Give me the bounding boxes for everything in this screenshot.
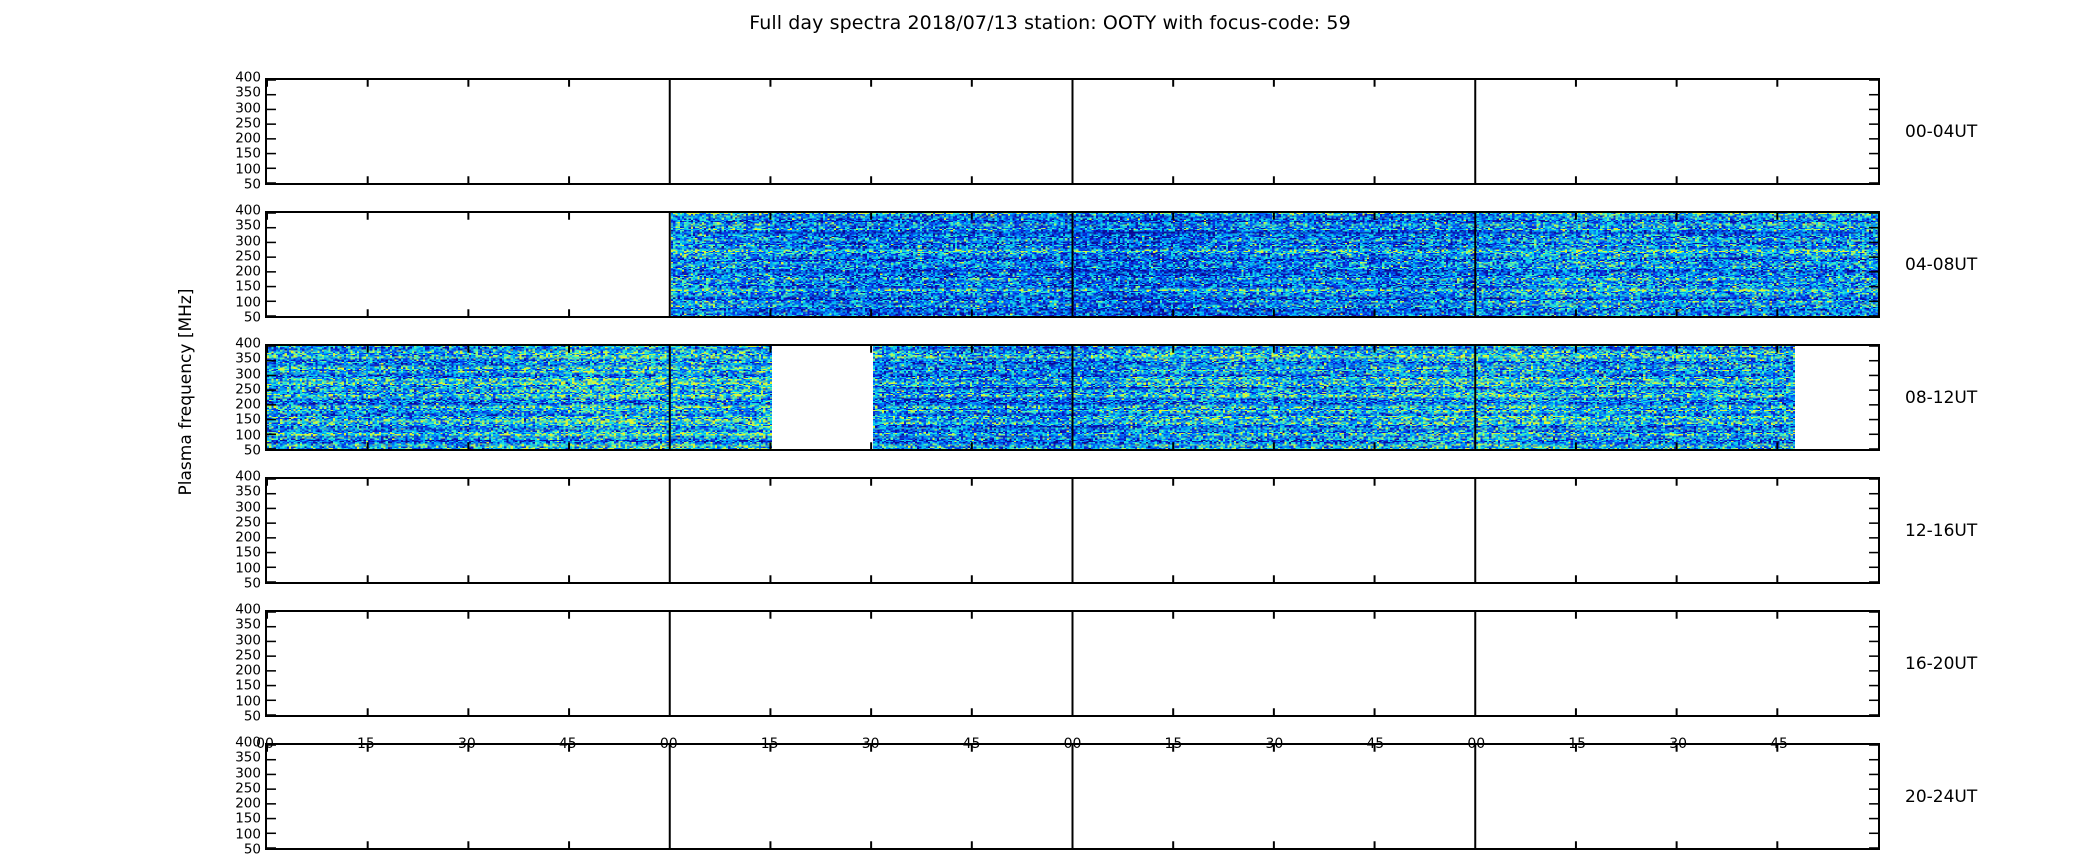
y-axis-tick-label: 50 — [244, 710, 261, 724]
y-axis-tick-label: 300 — [235, 368, 261, 382]
x-axis-tick-label: 00 — [660, 736, 678, 752]
panel-ut-range-label: 16-20UT — [1905, 654, 1977, 674]
y-axis-tick-label: 100 — [235, 429, 261, 443]
y-axis-tick-labels: 40035030025020015010050 — [201, 477, 261, 584]
y-axis-tick-labels: 40035030025020015010050 — [201, 211, 261, 318]
y-axis-tick-label: 350 — [235, 87, 261, 101]
panel-ut-range-label: 00-04UT — [1905, 122, 1977, 142]
y-axis-tick-label: 250 — [235, 649, 261, 663]
y-axis-tick-label: 200 — [235, 132, 261, 146]
y-axis-tick-label: 250 — [235, 516, 261, 530]
y-axis-tick-label: 150 — [235, 148, 261, 162]
y-axis-tick-label: 50 — [244, 178, 261, 192]
y-axis-tick-label: 350 — [235, 353, 261, 367]
x-axis-tick-label: 15 — [357, 736, 375, 752]
x-axis-tick-label: 15 — [761, 736, 779, 752]
y-axis-tick-label: 100 — [235, 296, 261, 310]
y-axis-tick-label: 200 — [235, 664, 261, 678]
x-axis-tick-label: 45 — [1366, 736, 1384, 752]
y-axis-tick-label: 400 — [235, 204, 261, 218]
panel-ut-range-label: 08-12UT — [1905, 388, 1977, 408]
panel-ut-range-label: 12-16UT — [1905, 521, 1977, 541]
panel-axes — [265, 743, 1880, 850]
y-axis-tick-label: 250 — [235, 782, 261, 796]
y-axis-tick-label: 300 — [235, 102, 261, 116]
x-axis-tick-label: 30 — [1669, 736, 1687, 752]
y-axis-tick-label: 400 — [235, 71, 261, 85]
panel-axes — [265, 344, 1880, 451]
y-axis-tick-label: 250 — [235, 117, 261, 131]
panel-axes — [265, 477, 1880, 584]
y-axis-tick-label: 300 — [235, 767, 261, 781]
y-axis-tick-label: 350 — [235, 220, 261, 234]
spectrogram-data-segment — [671, 213, 1880, 316]
spectrogram-data-segment — [267, 346, 772, 449]
panel-tick-layer — [267, 612, 1878, 715]
spectrogram-panel[interactable] — [265, 610, 1880, 717]
y-axis-tick-label: 350 — [235, 619, 261, 633]
x-axis-tick-label: 15 — [1165, 736, 1183, 752]
y-axis-tick-labels: 40035030025020015010050 — [201, 743, 261, 850]
y-axis-tick-label: 400 — [235, 603, 261, 617]
y-axis-tick-labels: 40035030025020015010050 — [201, 344, 261, 451]
panel-ut-range-label: 20-24UT — [1905, 787, 1977, 807]
spectrogram-panel[interactable] — [265, 78, 1880, 185]
y-axis-tick-label: 400 — [235, 736, 261, 750]
x-axis-tick-label: 30 — [458, 736, 476, 752]
page-title: Full day spectra 2018/07/13 station: OOT… — [0, 12, 2100, 34]
spectrogram-figure: Full day spectra 2018/07/13 station: OOT… — [0, 0, 2100, 800]
y-axis-tick-label: 200 — [235, 531, 261, 545]
y-axis-tick-label: 400 — [235, 470, 261, 484]
y-axis-tick-labels: 40035030025020015010050 — [201, 78, 261, 185]
x-axis-tick-label: 15 — [1568, 736, 1586, 752]
panel-ut-range-label: 04-08UT — [1905, 255, 1977, 275]
y-axis-tick-label: 150 — [235, 813, 261, 827]
y-axis-tick-label: 150 — [235, 414, 261, 428]
y-axis-tick-label: 150 — [235, 281, 261, 295]
x-axis-tick-label: 30 — [1265, 736, 1283, 752]
x-axis-tick-label: 45 — [559, 736, 577, 752]
panel-tick-layer — [267, 745, 1878, 848]
y-axis-title: Plasma frequency [MHz] — [176, 289, 196, 496]
y-axis-tick-label: 250 — [235, 250, 261, 264]
spectrogram-data-segment — [873, 346, 1795, 449]
panel-axes — [265, 78, 1880, 185]
x-axis-tick-label: 45 — [963, 736, 981, 752]
panel-tick-layer — [267, 80, 1878, 183]
y-axis-tick-label: 150 — [235, 547, 261, 561]
spectrogram-panel[interactable] — [265, 211, 1880, 318]
y-axis-tick-label: 50 — [244, 444, 261, 458]
panel-axes — [265, 211, 1880, 318]
y-axis-tick-label: 300 — [235, 634, 261, 648]
panel-axes — [265, 610, 1880, 717]
y-axis-tick-label: 300 — [235, 235, 261, 249]
spectrogram-panel[interactable] — [265, 344, 1880, 451]
spectrogram-panel[interactable] — [265, 743, 1880, 850]
y-axis-tick-label: 200 — [235, 398, 261, 412]
x-axis-tick-label: 00 — [1467, 736, 1485, 752]
y-axis-tick-label: 400 — [235, 337, 261, 351]
panel-tick-layer — [267, 479, 1878, 582]
y-axis-tick-label: 100 — [235, 828, 261, 842]
x-axis-tick-label: 00 — [1064, 736, 1082, 752]
y-axis-tick-labels: 40035030025020015010050 — [201, 610, 261, 717]
y-axis-tick-label: 50 — [244, 577, 261, 591]
x-axis-tick-label: 30 — [862, 736, 880, 752]
y-axis-tick-label: 350 — [235, 486, 261, 500]
y-axis-tick-label: 50 — [244, 311, 261, 325]
spectrogram-panel[interactable] — [265, 477, 1880, 584]
y-axis-tick-label: 100 — [235, 562, 261, 576]
y-axis-tick-label: 200 — [235, 797, 261, 811]
x-axis-tick-label: 45 — [1770, 736, 1788, 752]
y-axis-tick-label: 350 — [235, 752, 261, 766]
x-axis-tick-labels: 00153045001530450015304500153045 — [265, 736, 1880, 758]
y-axis-tick-label: 250 — [235, 383, 261, 397]
y-axis-tick-label: 50 — [244, 843, 261, 857]
y-axis-tick-label: 100 — [235, 695, 261, 709]
y-axis-tick-label: 300 — [235, 501, 261, 515]
y-axis-tick-label: 200 — [235, 265, 261, 279]
y-axis-tick-label: 150 — [235, 680, 261, 694]
y-axis-tick-label: 100 — [235, 163, 261, 177]
